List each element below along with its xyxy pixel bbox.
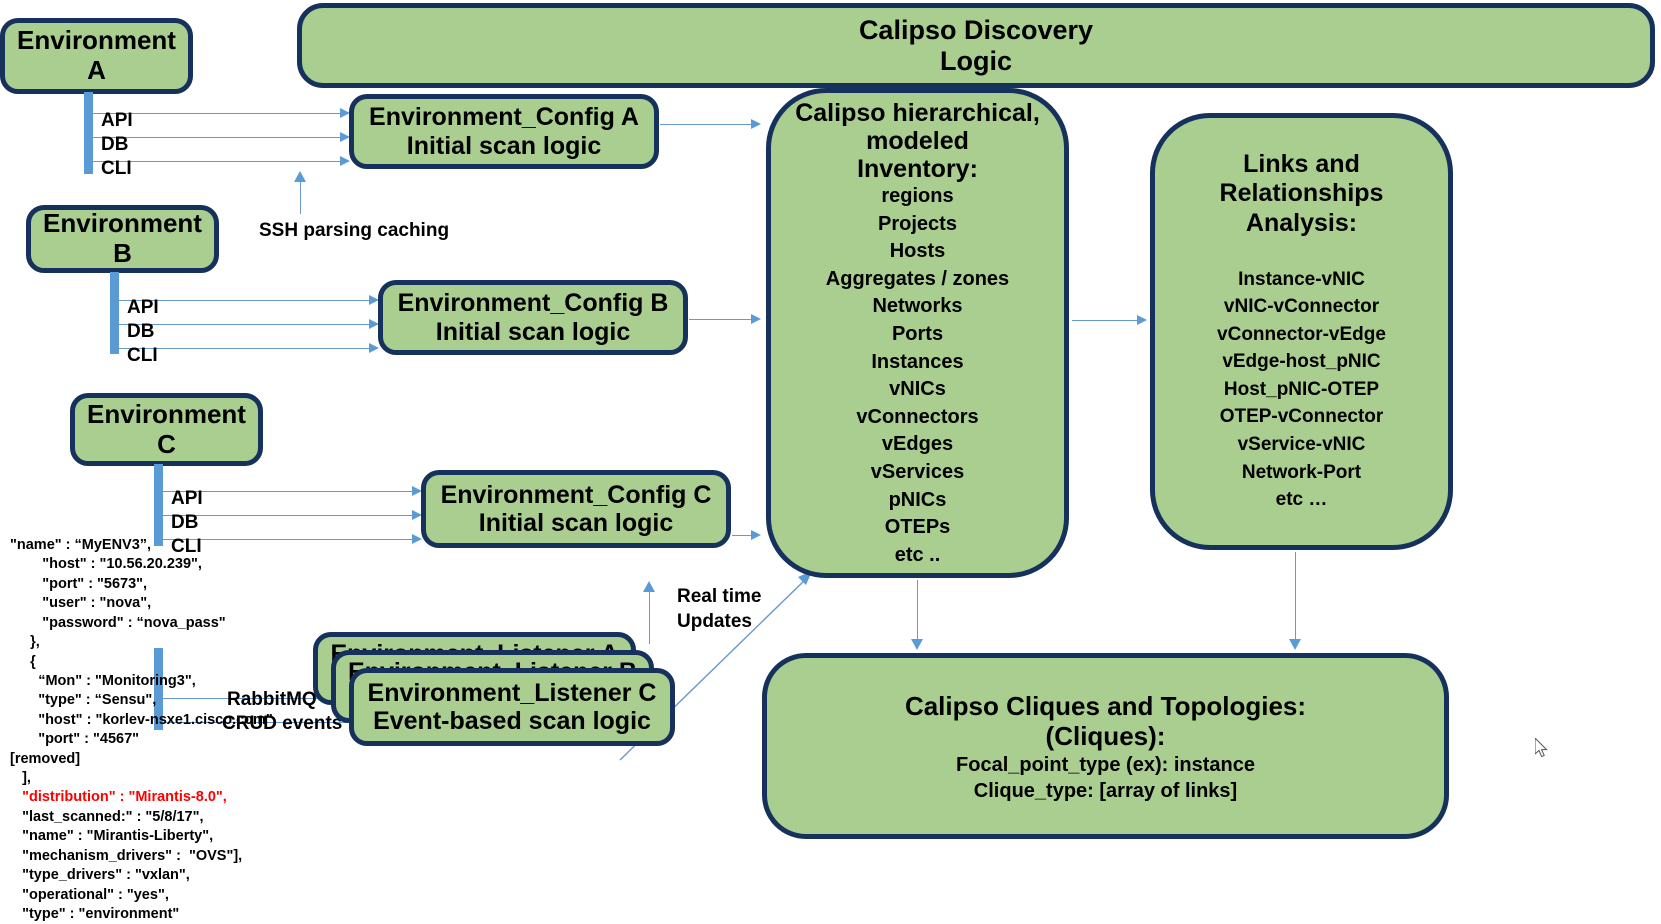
arrowhead-env-c-cli xyxy=(412,534,422,544)
inventory-title-line-2: modeled xyxy=(771,127,1064,155)
arrowhead-inventory-to-links xyxy=(1137,315,1147,325)
arrowhead-ssh-parsing xyxy=(294,171,306,182)
listener-c-line-2: Event-based scan logic xyxy=(354,707,670,736)
inventory-title-line-1: Calipso hierarchical, xyxy=(771,99,1064,127)
environment-config-c-box[interactable]: Environment_Config C Initial scan logic xyxy=(421,470,731,548)
cliques-title-line-2: (Cliques): xyxy=(767,722,1444,752)
config-c-line-2: Initial scan logic xyxy=(426,509,726,538)
calipso-cliques-topologies-box[interactable]: Calipso Cliques and Topologies: (Cliques… xyxy=(762,653,1449,839)
environment-b-line-2: B xyxy=(31,239,214,269)
realtime-line-2: Updates xyxy=(677,611,752,632)
cliques-sub-line-2: Clique_type: [array of links] xyxy=(767,778,1444,804)
inventory-item: Instances xyxy=(771,349,1064,377)
links-item: vEdge-host_pNIC xyxy=(1155,348,1448,376)
links-title-line-3: Analysis: xyxy=(1155,209,1448,238)
links-item: etc … xyxy=(1155,486,1448,514)
links-item: vConnector-vEdge xyxy=(1155,321,1448,349)
inventory-item: vNICs xyxy=(771,376,1064,404)
diagram-canvas: Calipso Discovery Logic Environment A En… xyxy=(0,0,1661,914)
environment-b-bus-bar xyxy=(110,272,119,354)
links-item: vService-vNIC xyxy=(1155,431,1448,459)
environment-listener-c-box[interactable]: Environment_Listener C Event-based scan … xyxy=(349,668,675,746)
inventory-item: vEdges xyxy=(771,431,1064,459)
config-b-line-1: Environment_Config B xyxy=(383,289,683,318)
calipso-discovery-logic-box: Calipso Discovery Logic xyxy=(297,3,1655,88)
config-c-line-1: Environment_Config C xyxy=(426,481,726,510)
environment-config-a-box[interactable]: Environment_Config A Initial scan logic xyxy=(349,94,659,169)
inventory-item: etc .. xyxy=(771,542,1064,570)
listener-c-line-1: Environment_Listener C xyxy=(354,679,670,708)
environment-c-bus-bar xyxy=(154,464,163,546)
links-item: Network-Port xyxy=(1155,459,1448,487)
header-line-1: Calipso Discovery xyxy=(302,15,1650,46)
json-highlighted-line: "distribution" : "Mirantis-8.0", xyxy=(22,789,227,805)
inventory-item: Projects xyxy=(771,211,1064,239)
arrowhead-config-a-to-inventory xyxy=(751,119,761,129)
config-b-line-2: Initial scan logic xyxy=(383,318,683,347)
label-env-a-api: API xyxy=(101,110,133,132)
connector-env-a-db xyxy=(93,137,346,138)
label-env-b-db: DB xyxy=(127,321,154,343)
label-env-a-db: DB xyxy=(101,134,128,156)
label-env-b-api: API xyxy=(127,297,159,319)
environment-a-line-2: A xyxy=(5,56,188,86)
inventory-item: OTEPs xyxy=(771,514,1064,542)
environment-a-box[interactable]: Environment A xyxy=(0,18,193,94)
environment-config-b-box[interactable]: Environment_Config B Initial scan logic xyxy=(378,280,688,355)
inventory-item: pNICs xyxy=(771,487,1064,515)
environment-a-bus-bar xyxy=(84,92,93,174)
config-a-line-2: Initial scan logic xyxy=(354,132,654,161)
cliques-sub-line-1: Focal_point_type (ex): instance xyxy=(767,752,1444,778)
links-title-line-2: Relationships xyxy=(1155,179,1448,208)
arrowhead-links-to-cliques xyxy=(1289,639,1301,650)
connector-env-c-db xyxy=(163,515,418,516)
calipso-inventory-box[interactable]: Calipso hierarchical, modeled Inventory:… xyxy=(766,88,1069,578)
environment-b-box[interactable]: Environment B xyxy=(26,205,219,273)
links-title-line-1: Links and xyxy=(1155,150,1448,179)
inventory-item: vConnectors xyxy=(771,404,1064,432)
environment-c-line-1: Environment xyxy=(75,400,258,430)
inventory-item: vServices xyxy=(771,459,1064,487)
label-env-b-cli: CLI xyxy=(127,345,158,367)
arrowhead-inventory-to-cliques xyxy=(911,639,923,650)
connector-config-a-to-inventory xyxy=(660,124,754,125)
connector-config-b-to-inventory xyxy=(689,319,754,320)
arrowhead-config-b-to-inventory xyxy=(751,314,761,324)
links-item: Host_pNIC-OTEP xyxy=(1155,376,1448,404)
label-real-time-updates: Real time Updates xyxy=(677,585,761,634)
environment-c-box[interactable]: Environment C xyxy=(70,393,263,466)
inventory-item: Ports xyxy=(771,321,1064,349)
connector-inventory-to-cliques xyxy=(917,580,918,640)
arrowhead-env-a-cli xyxy=(340,156,350,166)
mouse-pointer-icon xyxy=(1535,738,1549,758)
inventory-title-line-3: Inventory: xyxy=(771,155,1064,183)
environment-b-line-1: Environment xyxy=(31,209,214,239)
json-post: "last_scanned:" : "5/8/17", "name" : "Mi… xyxy=(10,809,242,922)
cliques-title-line-1: Calipso Cliques and Topologies: xyxy=(767,692,1444,722)
inventory-item: Hosts xyxy=(771,238,1064,266)
arrowhead-env-b-cli xyxy=(369,343,379,353)
inventory-item: Networks xyxy=(771,293,1064,321)
environment-c-line-2: C xyxy=(75,430,258,460)
environment-a-line-1: Environment xyxy=(5,26,188,56)
links-item: Instance-vNIC xyxy=(1155,266,1448,294)
inventory-item: Aggregates / zones xyxy=(771,266,1064,294)
header-line-2: Logic xyxy=(302,46,1650,77)
label-env-c-db: DB xyxy=(171,512,198,534)
links-relationships-analysis-box[interactable]: Links and Relationships Analysis: Instan… xyxy=(1150,113,1453,550)
inventory-item: regions xyxy=(771,183,1064,211)
label-ssh-parsing-caching: SSH parsing caching xyxy=(259,220,449,242)
connector-links-to-cliques xyxy=(1295,552,1296,640)
label-env-c-api: API xyxy=(171,488,203,510)
connector-ssh-parsing xyxy=(300,182,301,214)
config-a-line-1: Environment_Config A xyxy=(354,103,654,132)
connector-inventory-to-links xyxy=(1072,320,1140,321)
environment-json-snippet: "name" : “MyENV3”, "host" : "10.56.20.23… xyxy=(10,536,277,924)
realtime-line-1: Real time xyxy=(677,586,761,607)
links-item: OTEP-vConnector xyxy=(1155,403,1448,431)
links-item: vNIC-vConnector xyxy=(1155,293,1448,321)
label-env-a-cli: CLI xyxy=(101,158,132,180)
connector-env-b-db xyxy=(119,324,375,325)
json-pre: "name" : “MyENV3”, "host" : "10.56.20.23… xyxy=(10,537,277,805)
arrowhead-config-c-to-inventory xyxy=(751,530,761,540)
